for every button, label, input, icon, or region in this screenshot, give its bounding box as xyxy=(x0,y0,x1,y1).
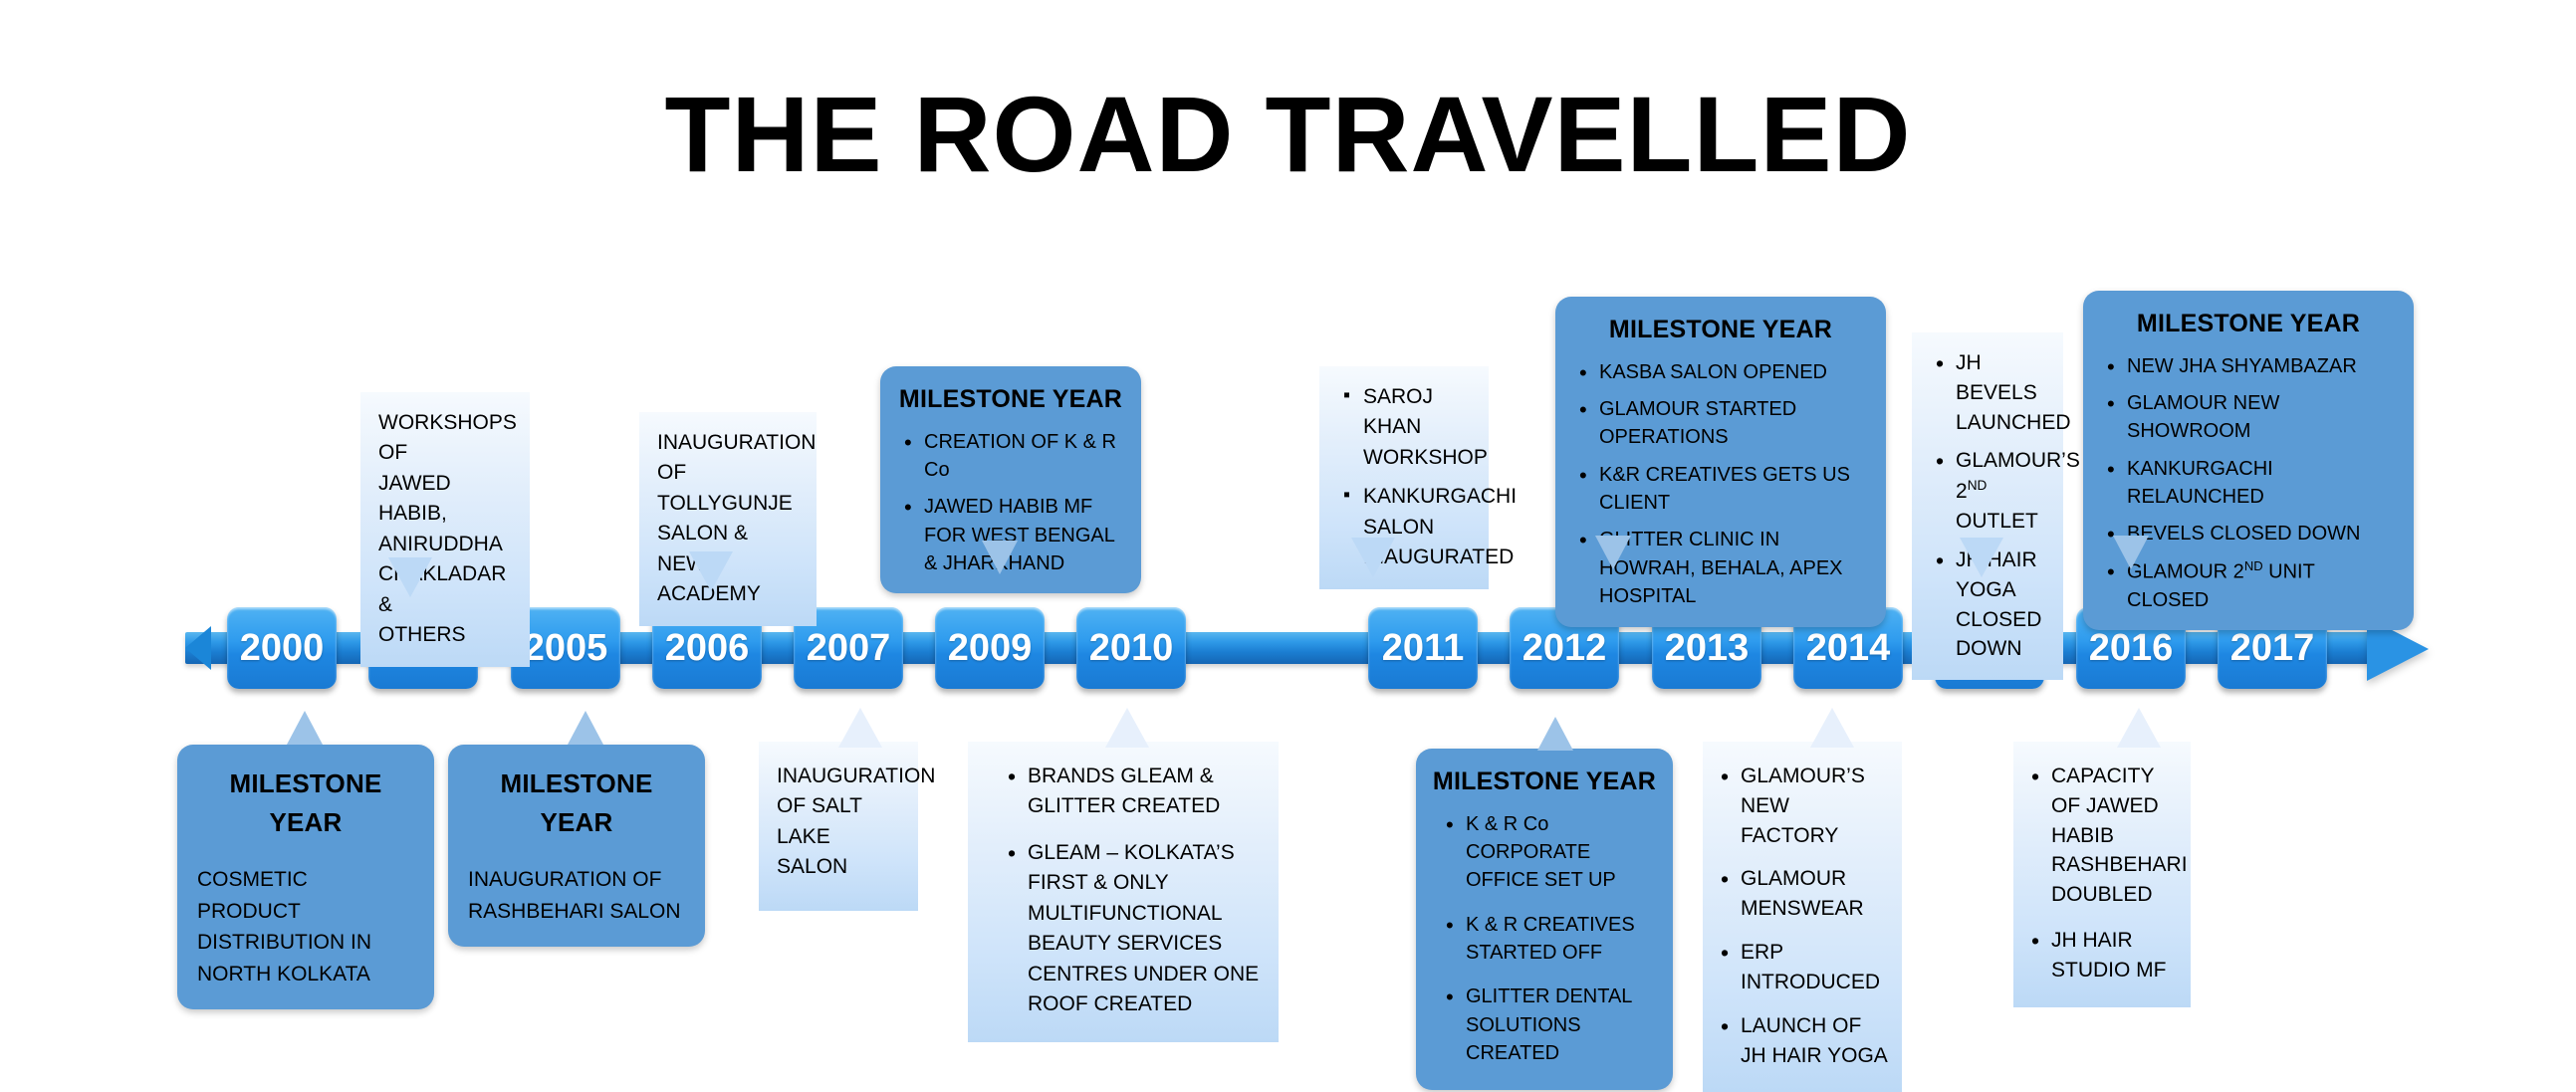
milestone-title: MILESTONE YEAR xyxy=(2101,307,2396,342)
callout-tail xyxy=(1810,708,1854,748)
callout-bullet: GLAMOUR’S 2ND OUTLET xyxy=(1956,446,2045,536)
callout-bullet: K & R Co CORPORATE OFFICE SET UP xyxy=(1466,810,1657,895)
callout-tail xyxy=(1595,536,1631,569)
callout-bullet: GLITTER DENTAL SOLUTIONS CREATED xyxy=(1466,983,1657,1067)
year-pill-2000[interactable]: 2000 xyxy=(227,607,337,689)
callout-2000-bottom[interactable]: MILESTONE YEAR COSMETIC PRODUCT DISTRIBU… xyxy=(177,745,434,1009)
callout-tail xyxy=(689,551,733,591)
callout-line: DISTRIBUTION IN xyxy=(197,927,414,959)
callout-bullet: BEVELS CLOSED DOWN xyxy=(2127,520,2396,547)
callout-2015-top[interactable]: JH BEVELS LAUNCHED GLAMOUR’S 2ND OUTLET … xyxy=(1912,332,2063,680)
callout-bullet: JH HAIR STUDIO MF xyxy=(2051,926,2179,985)
callout-bullet: GLITTER CLINIC IN HOWRAH, BEHALA, APEX H… xyxy=(1599,526,1868,610)
callout-line: INAUGURATION xyxy=(777,762,900,791)
callout-tail xyxy=(2113,536,2149,569)
callout-2006-top[interactable]: INAUGURATION OF TOLLYGUNJE SALON & NEW A… xyxy=(639,412,817,626)
callout-line: SALON xyxy=(777,852,900,882)
year-pill-2011[interactable]: 2011 xyxy=(1368,607,1478,689)
callout-line: ANIRUDDHA xyxy=(378,530,512,559)
callout-2016-top[interactable]: MILESTONE YEAR NEW JHA SHYAMBAZAR GLAMOU… xyxy=(2083,291,2414,630)
callout-bullet: KASBA SALON OPENED xyxy=(1599,358,1868,386)
callout-line: INAUGURATION OF xyxy=(468,864,685,896)
callout-tail xyxy=(1960,538,2003,577)
callout-bullet: K&R CREATIVES GETS US CLIENT xyxy=(1599,461,1868,518)
timeline-tail-arrow xyxy=(185,626,211,670)
callout-tail xyxy=(287,711,323,745)
callout-2016-bottom[interactable]: CAPACITY OF JAWED HABIB RASHBEHARI DOUBL… xyxy=(2013,742,2191,1007)
callout-tail xyxy=(838,708,882,748)
page-title: THE ROAD TRAVELLED xyxy=(0,78,2576,190)
callout-tail xyxy=(1105,708,1149,748)
callout-bullet: GLAMOUR NEW SHOWROOM xyxy=(2127,389,2396,446)
callout-tail xyxy=(1537,717,1573,751)
callout-bullet: JH BEVELS LAUNCHED xyxy=(1956,348,2045,437)
callout-line: OTHERS xyxy=(378,620,512,650)
year-pill-2009[interactable]: 2009 xyxy=(935,607,1045,689)
callout-bullet: GLAMOUR 2ND UNIT CLOSED xyxy=(2127,557,2396,614)
callout-tail xyxy=(1351,538,1395,577)
milestone-title: MILESTONE YEAR xyxy=(898,382,1123,418)
callout-bullet: K & R CREATIVES STARTED OFF xyxy=(1466,911,1657,968)
callout-bullet: KANKURGACHI RELAUNCHED xyxy=(2127,455,2396,512)
callout-tail xyxy=(388,557,432,597)
milestone-title: MILESTONE YEAR xyxy=(468,764,685,842)
callout-bullet: LAUNCH OF JH HAIR YOGA xyxy=(1741,1011,1890,1071)
callout-bullet: GLAMOUR’S NEW FACTORY xyxy=(1741,762,1890,850)
callout-line: OF SALT LAKE xyxy=(777,791,900,852)
callout-2011-top[interactable]: SAROJ KHAN WORKSHOP KANKURGACHI SALON IN… xyxy=(1319,366,1489,589)
callout-bullet: GLAMOUR MENSWEAR xyxy=(1741,864,1890,924)
callout-line: NORTH KOLKATA xyxy=(197,959,414,990)
callout-2007-bottom[interactable]: INAUGURATION OF SALT LAKE SALON xyxy=(759,742,918,911)
callout-tail xyxy=(2117,708,2161,748)
milestone-title: MILESTONE YEAR xyxy=(1573,313,1868,348)
callout-bullet: SAROJ KHAN WORKSHOP xyxy=(1363,382,1471,473)
callout-bullet: JAWED HABIB MF FOR WEST BENGAL & JHARKHA… xyxy=(924,493,1123,577)
year-pill-2010[interactable]: 2010 xyxy=(1076,607,1186,689)
callout-bullet: CREATION OF K & R Co xyxy=(924,428,1123,485)
callout-2002-bottom[interactable]: MILESTONE YEAR INAUGURATION OF RASHBEHAR… xyxy=(448,745,705,947)
callout-line: INAUGURATION xyxy=(657,428,799,458)
callout-bullet: CAPACITY OF JAWED HABIB RASHBEHARI DOUBL… xyxy=(2051,762,2179,910)
callout-2012-top[interactable]: MILESTONE YEAR KASBA SALON OPENED GLAMOU… xyxy=(1555,297,1886,627)
callout-2010-bottom[interactable]: BRANDS GLEAM & GLITTER CREATED GLEAM – K… xyxy=(968,742,1279,1042)
callout-bullet: ERP INTRODUCED xyxy=(1741,938,1890,997)
callout-line: OF TOLLYGUNJE xyxy=(657,458,799,519)
milestone-title: MILESTONE YEAR xyxy=(1432,764,1657,800)
callout-bullet: BRANDS GLEAM & GLITTER CREATED xyxy=(1028,762,1261,822)
callout-line: COSMETIC PRODUCT xyxy=(197,864,414,927)
callout-line: JAWED HABIB, xyxy=(378,469,512,530)
callout-2009-top[interactable]: MILESTONE YEAR CREATION OF K & R Co JAWE… xyxy=(880,366,1141,593)
callout-tail xyxy=(982,541,1018,574)
callout-bullet: NEW JHA SHYAMBAZAR xyxy=(2127,352,2396,380)
milestone-title: MILESTONE YEAR xyxy=(197,764,414,842)
callout-tail xyxy=(568,711,603,745)
callout-2002-top[interactable]: WORKSHOPS OF JAWED HABIB, ANIRUDDHA CHAK… xyxy=(360,392,530,667)
callout-2014-bottom[interactable]: GLAMOUR’S NEW FACTORY GLAMOUR MENSWEAR E… xyxy=(1703,742,1902,1092)
callout-bullet: GLEAM – KOLKATA’S FIRST & ONLY MULTIFUNC… xyxy=(1028,838,1261,1020)
callout-line: RASHBEHARI SALON xyxy=(468,896,685,928)
callout-2012-bottom[interactable]: MILESTONE YEAR K & R Co CORPORATE OFFICE… xyxy=(1416,749,1673,1090)
callout-bullet: GLAMOUR STARTED OPERATIONS xyxy=(1599,395,1868,452)
callout-line: WORKSHOPS OF xyxy=(378,408,512,469)
